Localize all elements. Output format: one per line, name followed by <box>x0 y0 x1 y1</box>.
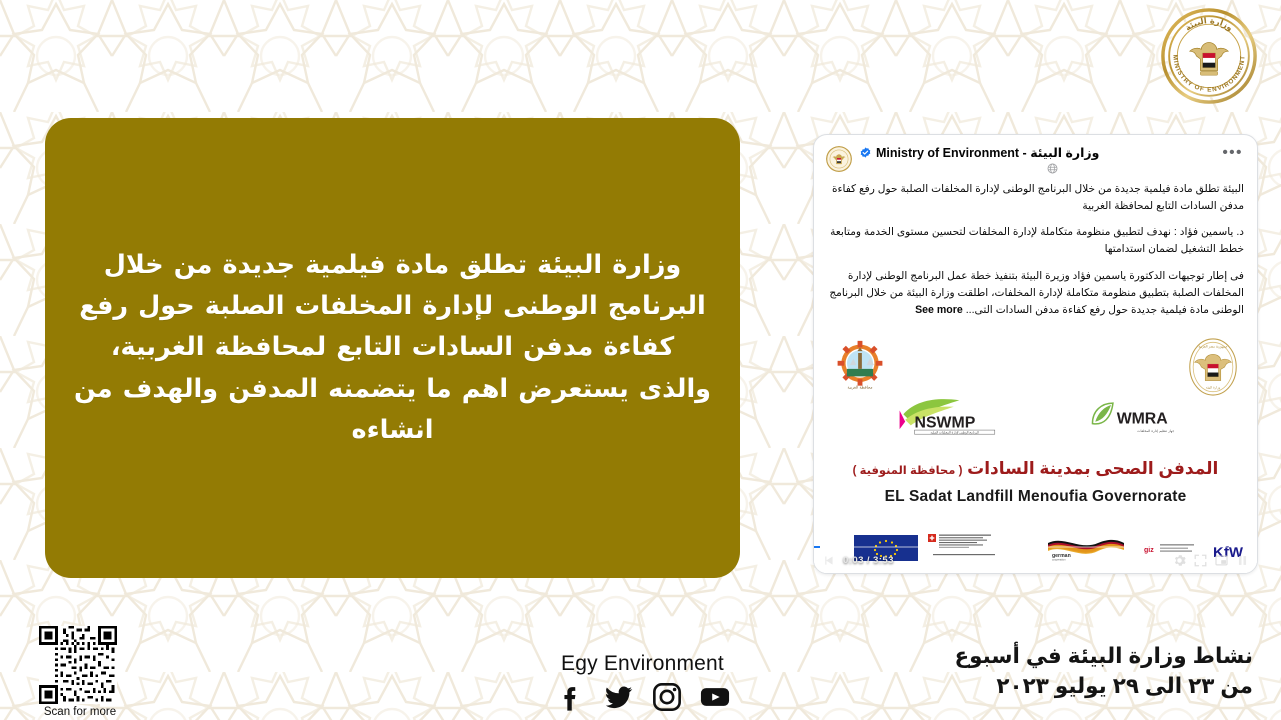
qr-caption: Scan for more <box>30 706 130 718</box>
instagram-icon[interactable] <box>652 682 682 712</box>
post-menu-button[interactable]: ••• <box>1222 149 1243 157</box>
svg-text:وزارة البيئة: وزارة البيئة <box>1206 385 1221 389</box>
video-player[interactable]: محافظة الغربية جمهورية مصر العربية وزارة… <box>814 327 1257 573</box>
fullscreen-icon[interactable] <box>1194 554 1207 567</box>
week-badge-line-1: نشاط وزارة البيئة في أسبوع <box>954 641 1253 672</box>
svg-text:جهاز تنظيم إدارة المخلفات: جهاز تنظيم إدارة المخلفات <box>1137 429 1174 434</box>
gharbia-governorate-logo: محافظة الغربية <box>832 339 888 395</box>
post-author-name[interactable]: Ministry of Environment - وزارة البيئة <box>876 145 1099 160</box>
post-text: البيئة تطلق مادة فيلمية جديدة من خلال ال… <box>814 177 1257 327</box>
post-header: Ministry of Environment - وزارة البيئة •… <box>814 135 1257 177</box>
qr-block: Scan for more <box>30 626 130 718</box>
week-badge: نشاط وزارة البيئة في أسبوع من ٢٣ الى ٢٩ … <box>954 641 1253 702</box>
slide-title-arabic-main: المدفن الصحى بمدينة السادات <box>967 459 1218 478</box>
verified-badge-icon <box>860 147 871 158</box>
headline-card: وزارة البيئة تطلق مادة فيلمية جديدة من خ… <box>45 118 740 578</box>
post-paragraph-2: د. ياسمين فؤاد : نهدف لتطبيق منظومة متكا… <box>827 224 1244 258</box>
social-icon-row <box>520 682 765 712</box>
egypt-state-emblem-logo: جمهورية مصر العربية وزارة البيئة <box>1187 337 1239 397</box>
youtube-icon[interactable] <box>700 682 730 712</box>
pause-icon[interactable] <box>1236 554 1249 567</box>
facebook-post-card[interactable]: Ministry of Environment - وزارة البيئة •… <box>813 134 1258 574</box>
previous-icon[interactable] <box>822 554 835 567</box>
post-author-block: Ministry of Environment - وزارة البيئة <box>860 145 1245 175</box>
social-handle: Egy Environment <box>520 652 765 676</box>
svg-text:البرنامج الوطنى لإدارة المخلفا: البرنامج الوطنى لإدارة المخلفات الصلبة <box>930 431 979 436</box>
post-paragraph-3: فى إطار توجيهات الدكتورة ياسمين فؤاد وزي… <box>827 268 1244 319</box>
nswmp-logo: NSWMP البرنامج الوطنى لإدارة المخلفات ال… <box>894 397 1006 437</box>
svg-text:WMRA: WMRA <box>1117 411 1169 428</box>
week-badge-line-2: من ٢٣ الى ٢٩ يوليو ٢٠٢٣ <box>954 671 1253 702</box>
slide-title-block: المدفن الصحى بمدينة السادات ( محافظة الم… <box>814 459 1257 506</box>
svg-text:جمهورية مصر العربية: جمهورية مصر العربية <box>1199 345 1228 349</box>
headline-text: وزارة البيئة تطلق مادة فيلمية جديدة من خ… <box>73 245 712 451</box>
ministry-of-environment-seal: وزارة البيئة MINISTRY OF ENVIRONMENT <box>1161 8 1257 104</box>
video-controls-bar[interactable]: 0:03 / 3:53 <box>814 547 1257 573</box>
see-more-link[interactable]: See more <box>915 302 963 319</box>
post-privacy-row <box>860 162 1245 175</box>
globe-icon <box>1047 163 1058 174</box>
social-block: Egy Environment <box>520 652 765 712</box>
wmra-logo: WMRA جهاز تنظيم إدارة المخلفات <box>1085 399 1195 437</box>
picture-in-picture-icon[interactable] <box>1215 554 1228 567</box>
video-time-display: 0:03 / 3:53 <box>843 555 894 566</box>
qr-code[interactable] <box>30 626 126 704</box>
avatar[interactable] <box>826 146 852 172</box>
post-author-row: Ministry of Environment - وزارة البيئة <box>860 145 1245 160</box>
video-slide: محافظة الغربية جمهورية مصر العربية وزارة… <box>814 327 1257 573</box>
post-paragraph-1: البيئة تطلق مادة فيلمية جديدة من خلال ال… <box>827 181 1244 215</box>
slide-title-arabic: المدفن الصحى بمدينة السادات ( محافظة الم… <box>814 459 1257 479</box>
slide-logo-row: محافظة الغربية جمهورية مصر العربية وزارة… <box>814 335 1257 443</box>
facebook-icon[interactable] <box>556 682 586 712</box>
slide-title-english: EL Sadat Landfill Menoufia Governorate <box>814 488 1257 506</box>
svg-text:NSWMP: NSWMP <box>915 414 976 431</box>
twitter-icon[interactable] <box>604 682 634 712</box>
slide-title-arabic-governorate: ( محافظة المنوفية ) <box>853 465 963 477</box>
post-paragraph-3-text: فى إطار توجيهات الدكتورة ياسمين فؤاد وزي… <box>829 270 1244 316</box>
settings-gear-icon[interactable] <box>1173 554 1186 567</box>
svg-text:محافظة الغربية: محافظة الغربية <box>848 385 873 390</box>
